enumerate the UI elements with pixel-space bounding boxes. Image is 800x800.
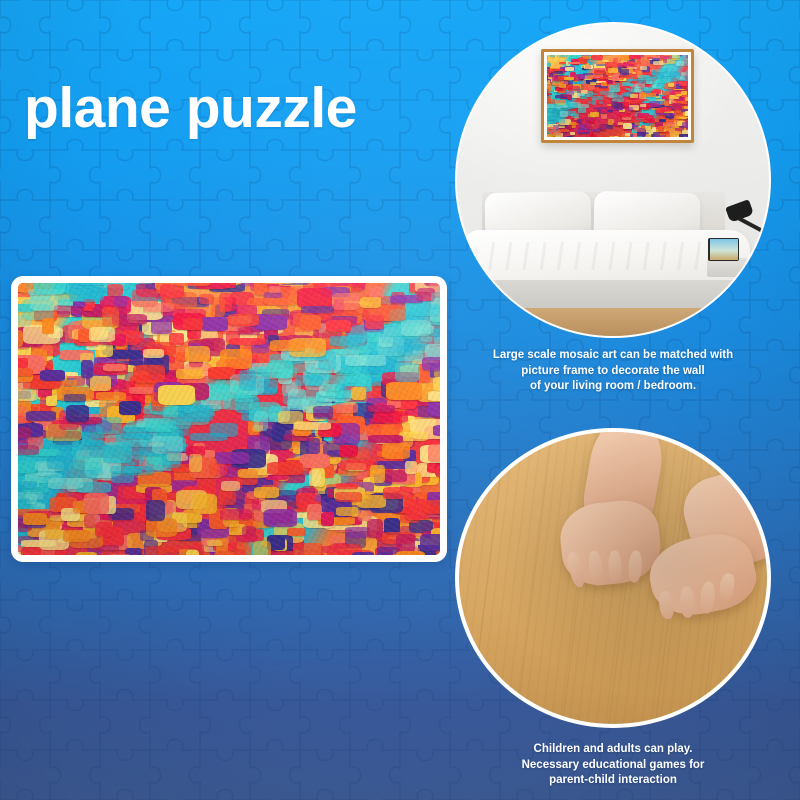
framed-artwork	[541, 49, 694, 143]
caption-play: Children and adults can play. Necessary …	[455, 742, 771, 789]
caption-play-line-1: Children and adults can play.	[455, 742, 771, 758]
caption-bedroom-line-1: Large scale mosaic art can be matched wi…	[455, 348, 771, 364]
bed-base	[494, 308, 712, 336]
voxel-shading	[18, 283, 440, 555]
voxel-city-artwork	[18, 283, 440, 555]
page-title: plane puzzle	[24, 77, 357, 139]
hero-product-card	[11, 276, 447, 562]
caption-play-line-2: Necessary educational games for	[455, 758, 771, 774]
play-photo	[459, 432, 767, 724]
bedroom-photo	[457, 24, 769, 336]
artwork-canvas	[547, 55, 688, 137]
hero-product-image	[18, 283, 440, 555]
caption-bedroom: Large scale mosaic art can be matched wi…	[455, 348, 771, 395]
feature-image-play	[455, 428, 771, 728]
floor-shadow-overlay	[459, 432, 767, 724]
artwork-mat	[544, 52, 691, 140]
product-poster: plane puzzle	[0, 0, 800, 800]
nightstand-picture-frame	[708, 238, 739, 261]
feature-image-bedroom	[455, 22, 771, 338]
caption-play-line-3: parent-child interaction	[455, 773, 771, 789]
caption-bedroom-line-3: of your living room / bedroom.	[455, 379, 771, 395]
caption-bedroom-line-2: picture frame to decorate the wall	[455, 364, 771, 380]
